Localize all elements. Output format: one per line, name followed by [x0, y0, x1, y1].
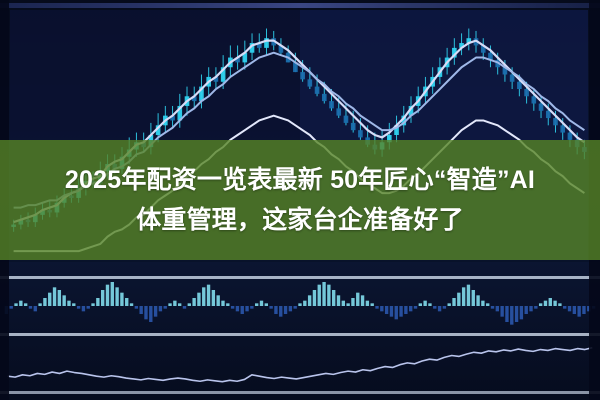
panel-separator-bottom — [0, 391, 600, 394]
screenshot-root: 2025年配资一览表最新 50年匠心“智造”AI 体重管理，这家台企准备好了 — [0, 0, 600, 400]
panel-separator-middle — [0, 333, 600, 336]
headline-line-2: 体重管理，这家台企准备好了 — [136, 200, 464, 240]
indicator-panels-bg — [0, 262, 600, 400]
top-highlight-strip — [0, 3, 600, 8]
panel-separator-top — [0, 276, 600, 279]
headline-line-1: 2025年配资一览表最新 50年匠心“智造”AI — [65, 160, 535, 200]
headline-banner: 2025年配资一览表最新 50年匠心“智造”AI 体重管理，这家台企准备好了 — [0, 140, 600, 260]
